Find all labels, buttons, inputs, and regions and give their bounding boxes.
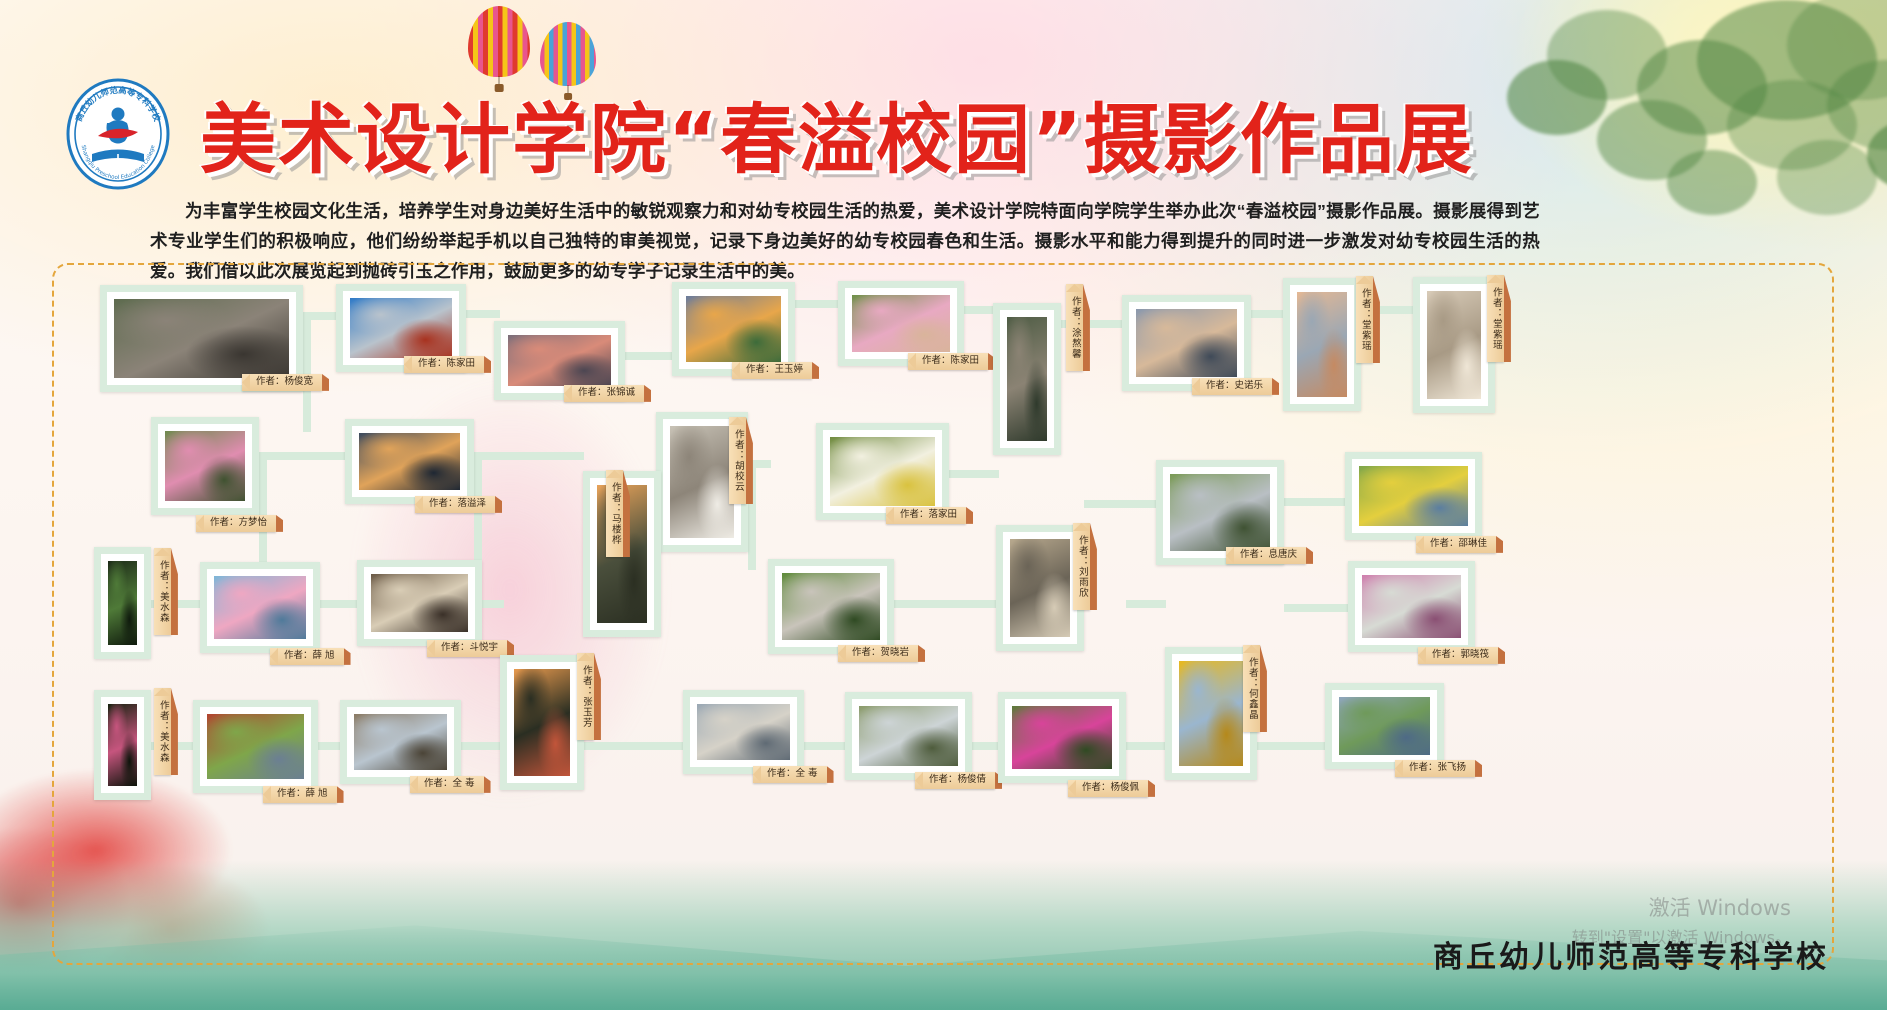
- yellow-field-bridge-photo: [1359, 466, 1468, 526]
- photo-white-mat: [200, 707, 311, 786]
- photo-card-p28[interactable]: [845, 692, 972, 780]
- photo-white-mat: [158, 424, 252, 508]
- photo-white-mat: [101, 697, 144, 793]
- connector-rail: [1257, 742, 1327, 750]
- photo-white-mat: [1000, 310, 1054, 448]
- pink-lily-flowers-photo: [165, 431, 245, 501]
- photo-caption-p15: 作者：息唐庆: [1226, 547, 1306, 564]
- connector-rail: [804, 742, 846, 750]
- photo-white-mat: [347, 707, 454, 777]
- student-painting-outdoors-photo: [1010, 539, 1070, 637]
- photo-white-mat: [1290, 285, 1354, 404]
- photo-white-mat: [1163, 467, 1277, 558]
- running-track-campus-photo: [207, 714, 304, 779]
- connector-rail: [320, 600, 360, 608]
- balloon-envelope: [468, 6, 530, 77]
- photo-card-p09[interactable]: [1413, 277, 1495, 413]
- connector-rail: [1284, 498, 1346, 506]
- connector-rail: [1126, 600, 1166, 608]
- connector-rail: [964, 306, 996, 314]
- photo-card-p07[interactable]: [1122, 295, 1251, 391]
- connector-rail: [259, 452, 347, 460]
- connector-rail: [1251, 310, 1287, 318]
- photo-caption-p12: 作者：胡校云: [729, 417, 746, 504]
- balloon-envelope: [540, 22, 596, 86]
- photo-white-mat: [1352, 459, 1475, 533]
- window-blinds-interior-photo: [1427, 291, 1481, 399]
- photo-caption-p31: 作者：张飞扬: [1395, 760, 1475, 777]
- photo-card-p10[interactable]: [151, 417, 259, 515]
- photo-white-mat: [775, 566, 887, 647]
- photo-caption-p11: 作者：落溢泽: [415, 496, 495, 513]
- photo-card-p29[interactable]: [998, 692, 1126, 783]
- photo-card-p25[interactable]: [340, 700, 461, 784]
- photo-white-mat: [107, 292, 296, 385]
- photo-caption-p24: 作者：薛 旭: [263, 786, 337, 803]
- poster-title: 美术设计学院“春溢校园”摄影作品展: [200, 78, 1400, 170]
- white-daisies-field-photo: [830, 437, 935, 506]
- connector-rail: [1084, 500, 1158, 508]
- cloudy-sky-evening-photo: [1136, 309, 1237, 377]
- cherry-blossom-branches-photo: [214, 576, 306, 639]
- photo-caption-p08: 作者：堂紫瑶: [1356, 276, 1373, 363]
- connector-rail: [1126, 742, 1166, 750]
- photo-card-p16[interactable]: [1345, 452, 1482, 540]
- photo-caption-p16: 作者：邵琳佳: [1416, 536, 1496, 553]
- connector-rail: [461, 742, 501, 750]
- stadium-at-dusk-photo: [686, 296, 781, 362]
- photo-caption-p01: 作者：杨俊宽: [242, 374, 322, 391]
- campus-building-red-foliage-photo: [350, 298, 452, 358]
- windows-activation-watermark-line1: 激活 Windows: [1649, 892, 1791, 922]
- connector-rail: [482, 600, 504, 608]
- photo-card-p19[interactable]: [357, 560, 482, 646]
- photo-caption-p07: 作者：史诺乐: [1192, 378, 1272, 395]
- photo-white-mat: [823, 430, 942, 513]
- photo-caption-p05: 作者：陈家田: [908, 353, 988, 370]
- photo-card-p17[interactable]: [94, 547, 151, 659]
- photo-caption-p02: 作者：陈家田: [404, 356, 484, 373]
- pink-sunset-clouds-photo: [508, 335, 611, 386]
- photo-caption-p29: 作者：杨俊佩: [1068, 780, 1148, 797]
- connector-rail: [795, 300, 841, 308]
- photo-card-p11[interactable]: [345, 419, 474, 504]
- photo-caption-p14: 作者：马楼桦: [606, 470, 623, 557]
- photo-card-p06[interactable]: [993, 303, 1061, 455]
- photo-caption-p20: 作者：贺晓岩: [838, 645, 918, 662]
- photo-caption-p04: 作者：王玉婷: [732, 362, 812, 379]
- city-skyline-hazy-photo: [697, 704, 790, 760]
- photo-card-p26[interactable]: [500, 655, 584, 790]
- student-lying-on-lawn-photo: [782, 573, 880, 640]
- connector-rail: [466, 310, 500, 318]
- photo-card-p20[interactable]: [768, 559, 894, 654]
- photo-card-p23[interactable]: [94, 690, 151, 800]
- photo-card-p13[interactable]: [816, 423, 949, 520]
- connector-rail: [318, 742, 342, 750]
- photo-white-mat: [101, 554, 144, 652]
- photo-caption-p23: 作者：美水森: [154, 688, 171, 775]
- hand-shadow-on-wall-photo: [1297, 292, 1347, 397]
- poster-title-text: 美术设计学院“春溢校园”摄影作品展: [200, 95, 1474, 184]
- connector-rail: [949, 470, 999, 478]
- photo-white-mat: [845, 288, 957, 359]
- school-emblem-logo: 商丘幼儿师范高等专科学校 Shangqiu Preschool Educatio…: [62, 78, 174, 190]
- photo-caption-p19: 作者：斗悦宇: [427, 640, 507, 657]
- connector-rail: [303, 312, 311, 432]
- photo-white-mat: [1003, 532, 1077, 644]
- photo-white-mat: [1129, 302, 1244, 384]
- photo-caption-p17: 作者：美水森: [154, 548, 171, 635]
- campus-green-overlook-photo: [1170, 474, 1270, 551]
- photo-card-p27[interactable]: [683, 690, 804, 774]
- photo-caption-p09: 作者：堂紫瑶: [1487, 275, 1504, 362]
- photo-caption-p28: 作者：杨俊倩: [915, 772, 995, 789]
- photo-white-mat: [507, 662, 577, 783]
- photo-caption-p03: 作者：张锦诚: [564, 385, 644, 402]
- hands-holding-pink-blossom-photo: [852, 295, 950, 352]
- classroom-desks-window-photo: [371, 574, 468, 632]
- photo-card-p31[interactable]: [1325, 683, 1444, 769]
- photo-card-p21[interactable]: [996, 525, 1084, 651]
- photo-caption-p18: 作者：薛 旭: [270, 648, 344, 665]
- poster-canvas: 商丘幼儿师范高等专科学校 Shangqiu Preschool Educatio…: [0, 0, 1887, 1010]
- street-lamp-dusk-sky-photo: [359, 433, 460, 490]
- photo-white-mat: [501, 328, 618, 393]
- photo-white-mat: [352, 426, 467, 497]
- photo-white-mat: [1420, 284, 1488, 406]
- connector-rail: [1284, 604, 1348, 612]
- butterfly-dark-foliage-photo: [108, 704, 137, 786]
- school-name-footer: 商丘幼儿师范高等专科学校: [1433, 932, 1829, 976]
- photo-caption-p21: 作者：刘雨欣: [1073, 523, 1090, 610]
- connector-rail: [474, 452, 584, 460]
- connector-rail: [584, 742, 684, 750]
- photo-caption-p13: 作者：落家田: [886, 507, 966, 524]
- photo-caption-p25: 作者：全 毒: [410, 776, 484, 793]
- connector-rail: [972, 742, 1000, 750]
- photo-card-p24[interactable]: [193, 700, 318, 793]
- campus-road-morning-photo: [354, 714, 447, 770]
- people-under-trees-photo: [859, 706, 958, 766]
- connector-rail: [625, 352, 675, 360]
- photo-card-p08[interactable]: [1283, 278, 1361, 411]
- photo-white-mat: [679, 289, 788, 369]
- photo-white-mat: [1332, 690, 1437, 762]
- photo-white-mat: [852, 699, 965, 773]
- photo-caption-p06: 作者：涂熬馨: [1066, 284, 1083, 371]
- photo-white-mat: [364, 567, 475, 639]
- corridor-columns-photo: [670, 426, 734, 538]
- tree-shadow-road-photo: [1007, 317, 1047, 441]
- photo-card-p22[interactable]: [1348, 561, 1475, 652]
- magnolia-blossom-building-photo: [1362, 575, 1461, 638]
- photo-card-p18[interactable]: [200, 562, 320, 653]
- photo-white-mat: [343, 291, 459, 365]
- photo-caption-p26: 作者：张玉芳: [577, 653, 594, 740]
- green-leaves-dark-photo: [108, 561, 137, 645]
- flagpole-at-sunset-photo: [514, 669, 570, 776]
- photo-white-mat: [207, 569, 313, 646]
- photo-caption-p27: 作者：全 毒: [753, 766, 827, 783]
- ginkgo-golden-tree-photo: [1179, 661, 1243, 766]
- student-sketching-outdoors-photo: [114, 299, 289, 378]
- photo-white-mat: [1172, 654, 1250, 773]
- connector-rail: [894, 600, 998, 608]
- city-buildings-park-photo: [1339, 697, 1430, 755]
- photo-white-mat: [1355, 568, 1468, 645]
- photo-caption-p30: 作者：何鑫晶: [1243, 645, 1260, 732]
- photo-white-mat: [690, 697, 797, 767]
- azalea-pink-flowers-photo: [1012, 706, 1112, 769]
- photo-caption-p22: 作者：郭晓筏: [1418, 647, 1498, 664]
- connector-rail: [259, 452, 267, 562]
- photo-white-mat: [1005, 699, 1119, 776]
- photo-caption-p10: 作者：方梦怡: [196, 515, 276, 532]
